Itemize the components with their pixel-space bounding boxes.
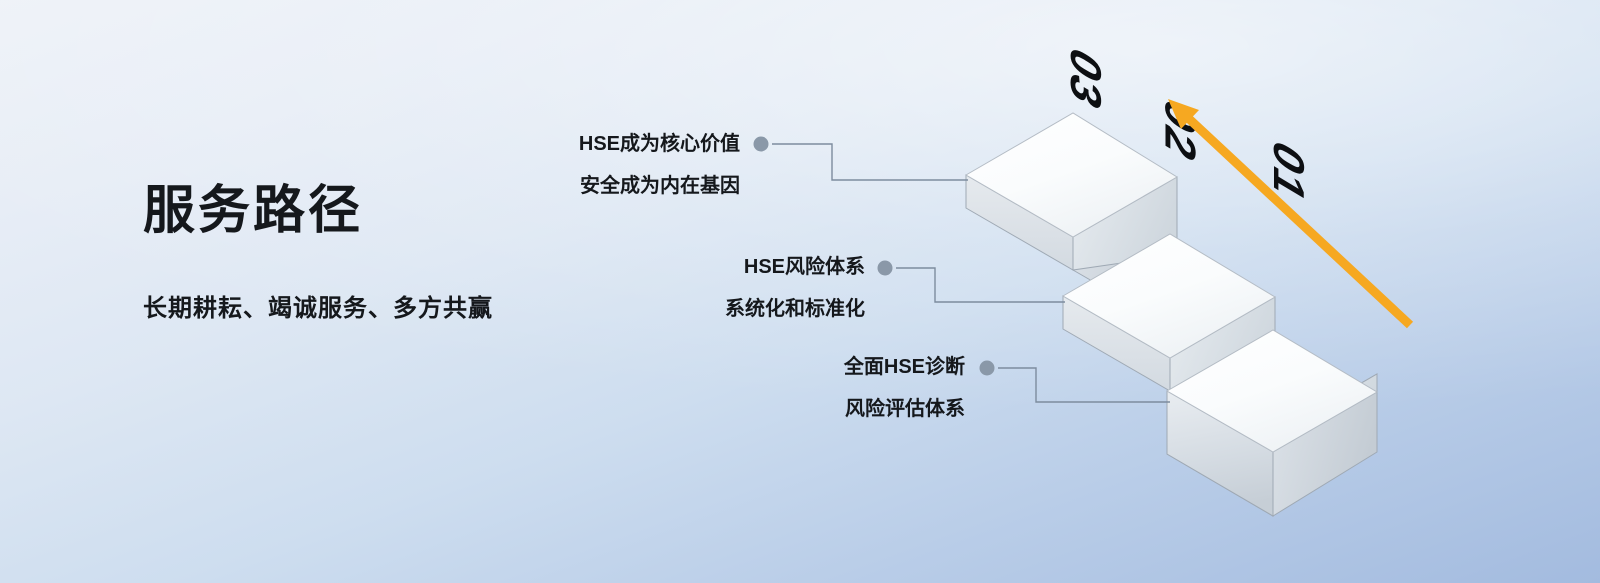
- growth-arrow: [0, 0, 1600, 583]
- slide-canvas: 服务路径 长期耕耘、竭诚服务、多方共赢: [0, 0, 1600, 583]
- growth-arrow-shaft: [1186, 116, 1410, 325]
